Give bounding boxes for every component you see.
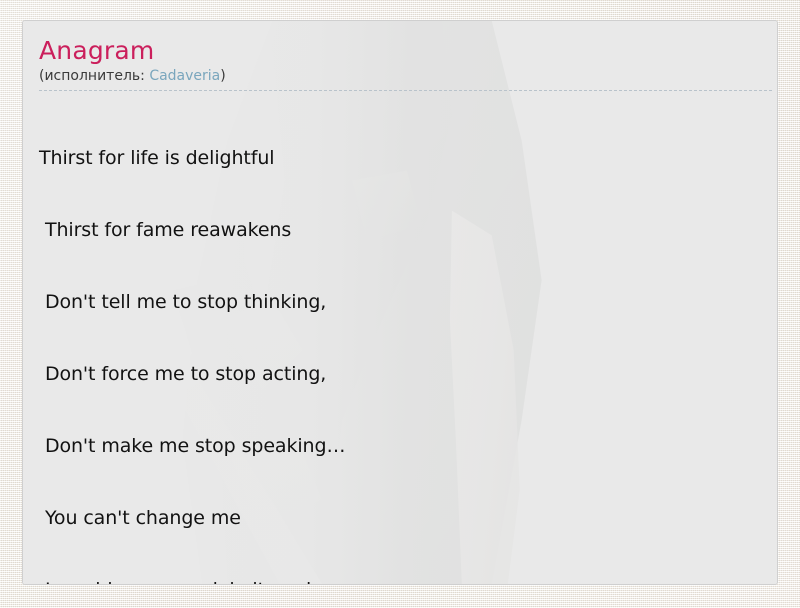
lyric-line: Don't make me stop speaking… bbox=[39, 434, 763, 458]
header-divider bbox=[39, 90, 772, 91]
artist-line: (исполнитель: Cadaveria) bbox=[39, 67, 763, 86]
lyric-card: Anagram (исполнитель: Cadaveria) Thirst … bbox=[22, 20, 778, 585]
song-title: Anagram bbox=[39, 37, 763, 65]
artist-label-suffix: ) bbox=[220, 68, 225, 84]
artist-link[interactable]: Cadaveria bbox=[149, 68, 220, 84]
lyric-line: Don't tell me to stop thinking, bbox=[39, 290, 763, 314]
lyric-line: Thirst for life is delightful bbox=[39, 146, 763, 170]
lyrics-body: Thirst for life is delightful Thirst for… bbox=[39, 98, 763, 585]
lyric-line: Thirst for fame reawakens bbox=[39, 218, 763, 242]
lyric-line: You can't change me bbox=[39, 506, 763, 530]
card-content: Anagram (исполнитель: Cadaveria) Thirst … bbox=[23, 21, 777, 585]
lyric-line: I would never explain it again. bbox=[39, 578, 763, 585]
artist-label-prefix: (исполнитель: bbox=[39, 68, 149, 84]
lyric-line: Don't force me to stop acting, bbox=[39, 362, 763, 386]
